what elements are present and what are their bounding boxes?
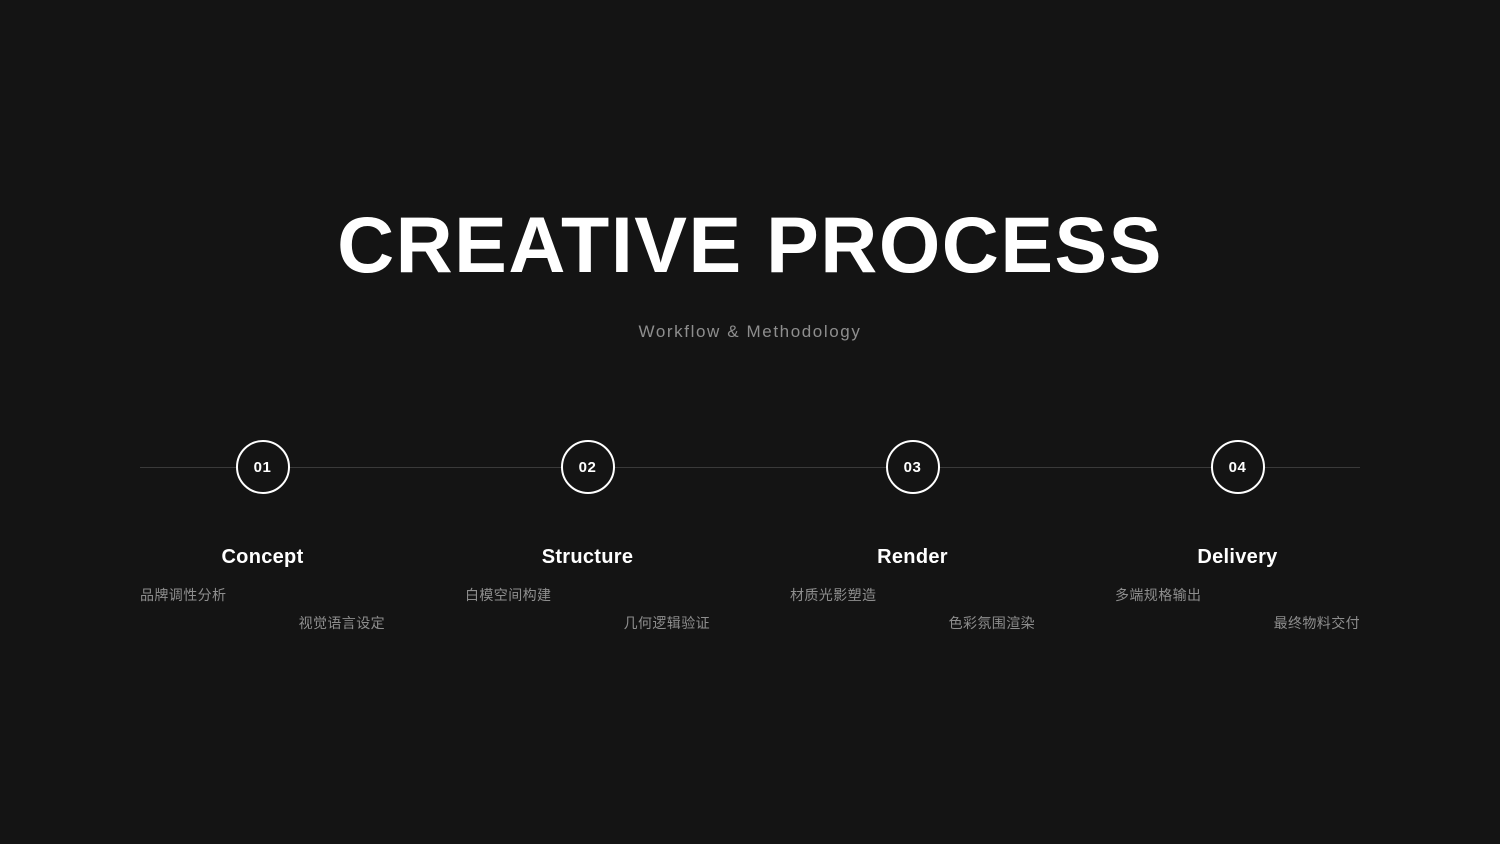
step-subitem: 白模空间构建 bbox=[465, 588, 710, 602]
step-marker-circle-03[interactable]: 03 bbox=[886, 440, 940, 494]
page-title: CREATIVE PROCESS bbox=[0, 205, 1500, 284]
timeline-step-01[interactable]: 01 Concept 品牌调性分析 视觉语言设定 bbox=[140, 440, 385, 630]
step-title-label: Concept bbox=[221, 547, 303, 567]
step-number-label: 04 bbox=[1229, 460, 1247, 475]
step-subitem: 几何逻辑验证 bbox=[465, 616, 710, 630]
step-subitem: 材质光影塑造 bbox=[790, 588, 1035, 602]
step-subitem-list: 白模空间构建 几何逻辑验证 bbox=[465, 588, 710, 630]
timeline-step-04[interactable]: 04 Delivery 多端规格输出 最终物料交付 bbox=[1115, 440, 1360, 630]
timeline-steps: 01 Concept 品牌调性分析 视觉语言设定 02 Structure 白模… bbox=[140, 440, 1360, 670]
step-subitem-list: 材质光影塑造 色彩氛围渲染 bbox=[790, 588, 1035, 630]
step-subitem: 色彩氛围渲染 bbox=[790, 616, 1035, 630]
timeline-step-03[interactable]: 03 Render 材质光影塑造 色彩氛围渲染 bbox=[790, 440, 1035, 630]
step-subitem: 多端规格输出 bbox=[1115, 588, 1360, 602]
step-number-label: 03 bbox=[904, 460, 922, 475]
step-title-label: Structure bbox=[542, 547, 634, 567]
step-subitem-list: 品牌调性分析 视觉语言设定 bbox=[140, 588, 385, 630]
slide-header: CREATIVE PROCESS Workflow & Methodology bbox=[0, 205, 1500, 342]
timeline-step-02[interactable]: 02 Structure 白模空间构建 几何逻辑验证 bbox=[465, 440, 710, 630]
step-subitem: 视觉语言设定 bbox=[140, 616, 385, 630]
step-title-label: Delivery bbox=[1197, 547, 1277, 567]
step-marker-circle-01[interactable]: 01 bbox=[236, 440, 290, 494]
step-marker-circle-02[interactable]: 02 bbox=[561, 440, 615, 494]
step-marker-circle-04[interactable]: 04 bbox=[1211, 440, 1265, 494]
step-subitem-list: 多端规格输出 最终物料交付 bbox=[1115, 588, 1360, 630]
step-subitem: 品牌调性分析 bbox=[140, 588, 385, 602]
step-number-label: 01 bbox=[254, 460, 272, 475]
step-subitem: 最终物料交付 bbox=[1115, 616, 1360, 630]
step-title-label: Render bbox=[877, 547, 948, 567]
slide-canvas: CREATIVE PROCESS Workflow & Methodology … bbox=[0, 0, 1500, 844]
process-timeline: 01 Concept 品牌调性分析 视觉语言设定 02 Structure 白模… bbox=[0, 440, 1500, 670]
page-subtitle: Workflow & Methodology bbox=[0, 322, 1500, 342]
step-number-label: 02 bbox=[579, 460, 597, 475]
